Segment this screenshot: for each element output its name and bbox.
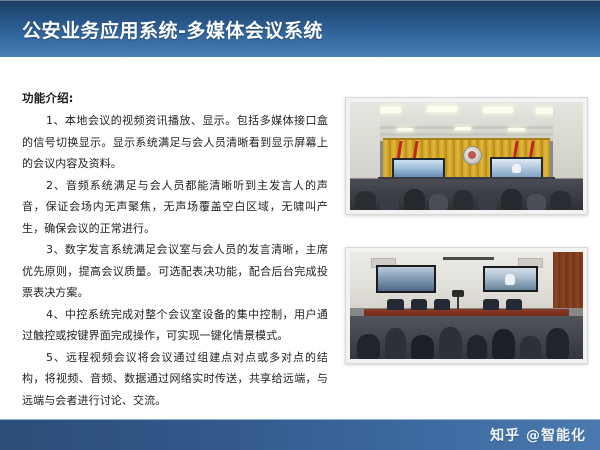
feature-paragraph-5: 5、远程视频会议将会议通过组建点对点或多对点的结构，将视频、音频、数据通过网络实… (22, 347, 328, 412)
page-title: 公安业务应用系统-多媒体会议系统 (22, 16, 323, 43)
wood-panel-wall (553, 252, 583, 308)
ceiling-light (483, 107, 513, 112)
audience-area (350, 179, 583, 210)
ceiling-beam (373, 133, 559, 136)
audience-head (478, 193, 497, 210)
feature-paragraph-4: 4、中控系统完成对整个会议室设备的集中控制，用户通过触控或按键界面完成操作，可实… (22, 304, 328, 347)
ceiling-light (427, 106, 457, 111)
audience-head (355, 191, 376, 210)
audience-head (404, 189, 425, 210)
attendee-head (467, 335, 488, 359)
video-conference-room-photo-image (350, 252, 583, 359)
ceiling-light (455, 127, 471, 130)
wall-display-left (376, 265, 436, 294)
attendee-head (411, 335, 434, 359)
stage-display-right (490, 157, 543, 178)
ceiling-strip (443, 257, 494, 260)
audience-head (550, 191, 571, 210)
chair-back (387, 299, 403, 310)
audience-head (501, 189, 522, 210)
right-wall (553, 102, 583, 178)
slide-canvas: 公安业务应用系统-多媒体会议系统 功能介绍: 1、本地会议的视频资讯播放、显示。… (0, 0, 600, 450)
ceiling-light (397, 128, 413, 131)
watermark-label: 知乎 @智能化 (490, 425, 586, 445)
feature-description-block: 功能介绍: 1、本地会议的视频资讯播放、显示。包括多媒体接口盒的信号切换显示。显… (22, 88, 328, 411)
attendee-head (357, 334, 380, 359)
chair-back (434, 299, 450, 310)
left-wall (350, 102, 380, 178)
audience-head (380, 194, 399, 210)
attendee-head (439, 327, 462, 359)
attendee-head (492, 329, 515, 359)
audience-head (453, 190, 474, 210)
conference-hall-photo-image (350, 102, 583, 210)
attendee-head (385, 328, 406, 359)
attendee-head (520, 336, 541, 359)
slide-footer-bar: 知乎 @智能化 (0, 419, 600, 450)
audience-head (429, 194, 448, 210)
chair-back (506, 299, 522, 310)
seating-area (350, 316, 583, 359)
wall-display-right (483, 266, 538, 292)
chair-back (483, 299, 499, 310)
slide-header-bar: 公安业务应用系统-多媒体会议系统 (0, 0, 600, 57)
feature-paragraph-3: 3、数字发言系统满足会议室与会人员的发言清晰，主席优先原则，提高会议质量。可选配… (22, 239, 328, 304)
chair-back (411, 299, 427, 310)
conference-hall-photo (345, 97, 588, 215)
audience-head (527, 194, 546, 210)
section-heading: 功能介绍: (22, 88, 328, 108)
attendee-head (546, 328, 569, 359)
video-conference-room-photo (345, 247, 588, 364)
ceiling-light (508, 128, 524, 131)
feature-paragraph-1: 1、本地会议的视频资讯播放、显示。包括多媒体接口盒的信号切换显示。显示系统满足与… (22, 110, 328, 175)
feature-paragraph-2: 2、音频系统满足与会人员都能清晰听到主发言人的声音，保证会场内无声聚焦，无声场覆… (22, 175, 328, 240)
